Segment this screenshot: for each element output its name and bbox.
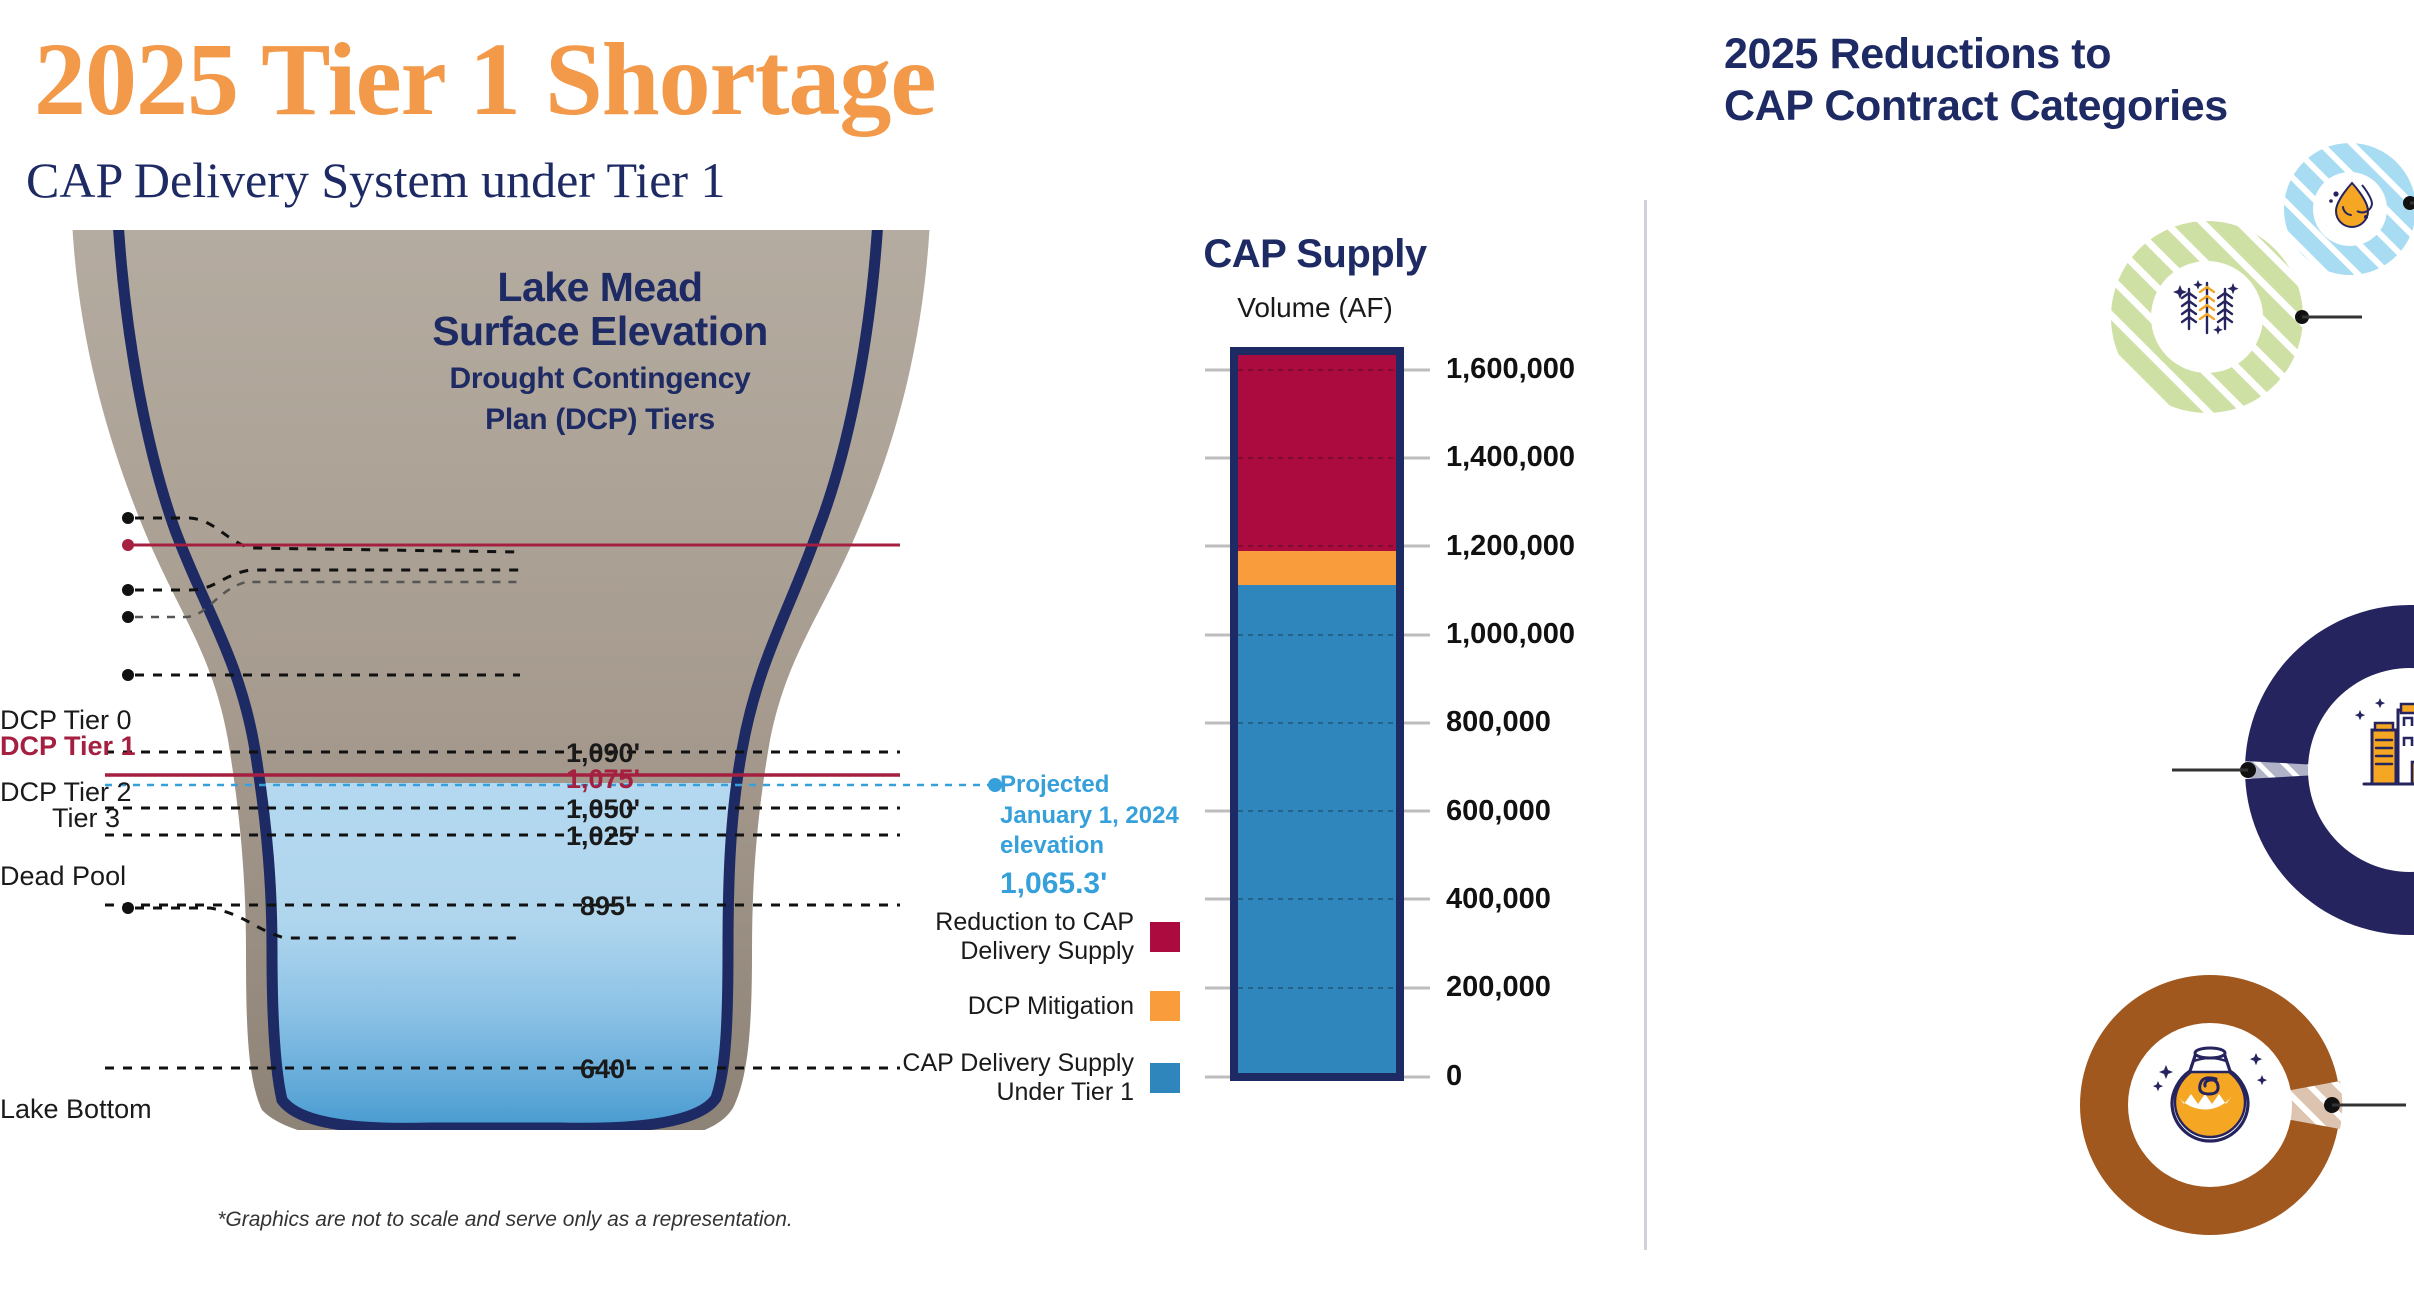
donut-other-excess (2284, 143, 2414, 275)
legend-item-cap-delivery-under-tier-1: CAP Delivery Supply Under Tier 1 (880, 1049, 1180, 1106)
legend-swatch-cap-delivery (1150, 1063, 1180, 1093)
tick-label-1600000: 1,600,000 (1446, 353, 1575, 386)
tick-label-0: 0 (1446, 1060, 1462, 1093)
reductions-panel: Other Excess Reduced by 100% Agriculture… (1644, 0, 2414, 1286)
tick-label-800000: 800,000 (1446, 706, 1551, 739)
tick-label-1000000: 1,000,000 (1446, 618, 1575, 651)
legend-label-line2-2: Under Tier 1 (902, 1078, 1134, 1107)
legend-label-line1-1: DCP Mitigation (968, 992, 1134, 1021)
legend-item-reduction-to-cap-delivery-supply: Reduction to CAP Delivery Supply (880, 908, 1180, 965)
bar-segment-reduction-to-cap-supply (1234, 351, 1400, 551)
bar-segment-cap-delivery-under-tier-1 (1234, 585, 1400, 1077)
tick-label-1400000: 1,400,000 (1446, 441, 1575, 474)
legend-swatch-dcp-mitigation (1150, 991, 1180, 1021)
donut-municipal-industrial (2172, 605, 2414, 935)
chart-legend: Reduction to CAP Delivery Supply DCP Mit… (880, 908, 1180, 1128)
stacked-bar (1234, 351, 1400, 1077)
legend-item-dcp-mitigation: DCP Mitigation (880, 991, 1180, 1021)
tick-label-600000: 600,000 (1446, 795, 1551, 828)
legend-label-line2-0: Delivery Supply (935, 937, 1134, 966)
legend-swatch-reduction (1150, 922, 1180, 952)
tick-label-400000: 400,000 (1446, 883, 1551, 916)
legend-label-line1-0: Reduction to CAP (935, 908, 1134, 937)
donut-tribal (2080, 975, 2406, 1235)
reduction-donuts-svg (1644, 0, 2414, 1286)
legend-label-line1-2: CAP Delivery Supply (902, 1049, 1134, 1078)
tick-label-1200000: 1,200,000 (1446, 530, 1575, 563)
bar-segment-dcp-mitigation (1234, 551, 1400, 585)
tick-label-200000: 200,000 (1446, 971, 1551, 1004)
